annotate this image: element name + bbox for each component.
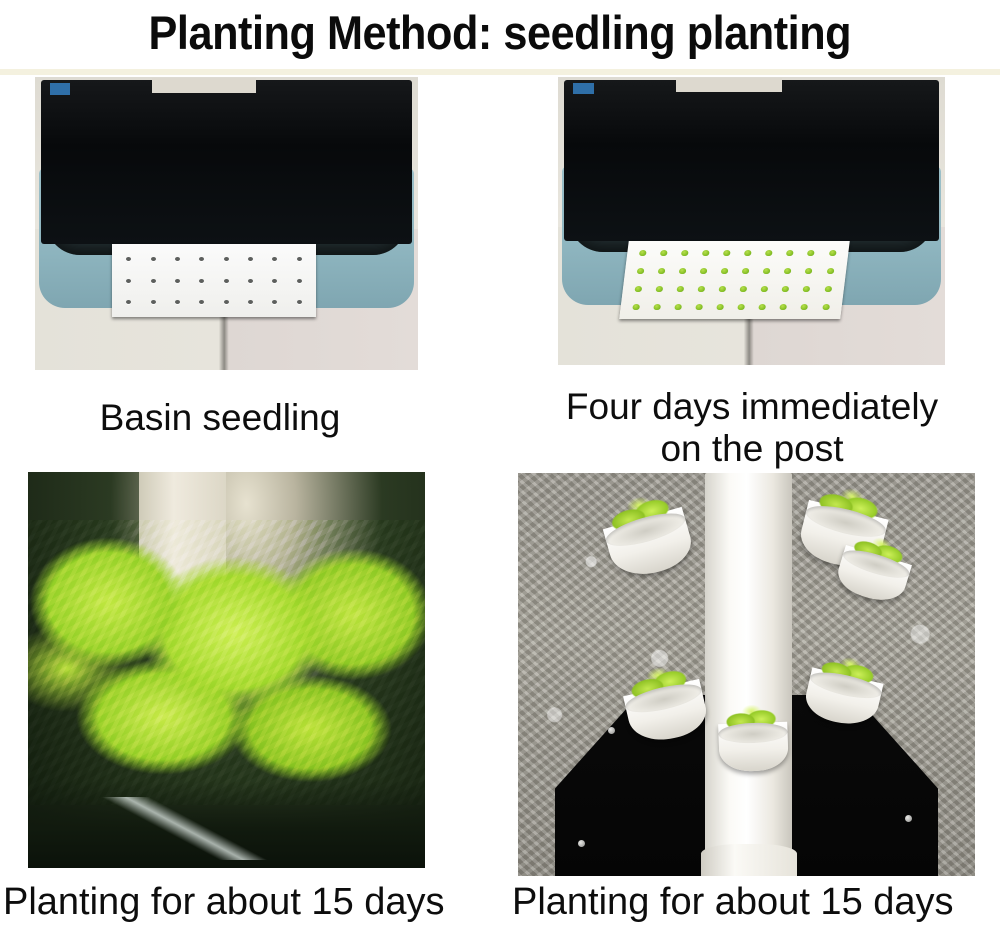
seedling-sprout (782, 286, 790, 292)
foam-hole (175, 257, 180, 261)
seedling-sprout (676, 286, 684, 292)
foam-hole (199, 279, 204, 283)
basin-black-body (564, 80, 939, 241)
basin-black-body (41, 80, 413, 244)
foam-hole (248, 279, 253, 283)
seedling-sprout (637, 268, 645, 274)
seedling-sprout (742, 268, 750, 274)
foam-hole (272, 257, 277, 261)
seedling-sprout (780, 304, 788, 310)
foam-hole (248, 300, 253, 304)
foam-hole (175, 300, 180, 304)
seedling-sprout (658, 268, 666, 274)
foam-hole (126, 279, 131, 283)
tower-column (705, 473, 792, 876)
foam-hole (297, 300, 302, 304)
seedling-sprout (786, 250, 794, 256)
foam-hole (224, 279, 229, 283)
seedling-sprout (700, 268, 708, 274)
seedling-sprout (681, 250, 689, 256)
photo-lettuce-closeup (28, 472, 425, 868)
basin-blue-label (573, 83, 594, 94)
seedling-sprout (737, 304, 745, 310)
title-divider (0, 69, 1000, 75)
seedling-sprout (807, 250, 815, 256)
base-screw (905, 815, 912, 822)
foam-hole (151, 300, 156, 304)
foam-hole (151, 279, 156, 283)
photo-four-days-content (558, 77, 945, 365)
seedling-sprout (740, 286, 748, 292)
foam-hole (272, 279, 277, 283)
glass-reflection (99, 797, 282, 860)
tower-base-collar (701, 844, 797, 876)
foam-hole (199, 257, 204, 261)
seedling-sprout (716, 304, 724, 310)
base-screw (608, 727, 615, 734)
foam-hole (272, 300, 277, 304)
page-title-bar: Planting Method: seedling planting (0, 0, 1000, 66)
caption-planting-15-days-right: Planting for about 15 days (512, 880, 1000, 924)
foam-hole (224, 257, 229, 261)
seedling-sprout (822, 304, 830, 310)
foam-hole (297, 257, 302, 261)
seedling-sprout (653, 304, 661, 310)
seedling-sprout (758, 304, 766, 310)
caption-basin-seedling: Basin seedling (20, 396, 420, 440)
seedling-sprout (744, 250, 752, 256)
seedling-sprout (763, 268, 771, 274)
seedling-sprout (660, 250, 668, 256)
seedling-sprout (632, 304, 640, 310)
seedling-sprout (803, 286, 811, 292)
basin-blue-label (50, 83, 70, 94)
foam-hole (297, 279, 302, 283)
seedling-sprout (828, 250, 836, 256)
foam-hole (126, 257, 131, 261)
photo-tower-content (518, 473, 975, 876)
seedling-sprout (801, 304, 809, 310)
page-title: Planting Method: seedling planting (149, 8, 852, 58)
caption-four-days: Four days immediately on the post (540, 386, 964, 470)
foam-hole (151, 257, 156, 261)
photo-basin-seedling (35, 77, 418, 370)
seedling-sprout (765, 250, 773, 256)
leaf-texture (28, 520, 425, 805)
seedling-sprout (826, 268, 834, 274)
photo-hydroponic-tower (518, 473, 975, 876)
seedling-sprout (639, 250, 647, 256)
foam-board-sprouted (619, 241, 849, 319)
caption-planting-15-days-left: Planting for about 15 days (0, 880, 500, 924)
seedling-sprout (695, 304, 703, 310)
foam-hole (248, 257, 253, 261)
seedling-sprout (761, 286, 769, 292)
seedling-sprout (721, 268, 729, 274)
seedling-sprout (784, 268, 792, 274)
photo-four-days-seedlings (558, 77, 945, 365)
seedling-sprout (723, 250, 731, 256)
foam-hole (199, 300, 204, 304)
foam-hole (126, 300, 131, 304)
foam-hole (224, 300, 229, 304)
seedling-sprout (805, 268, 813, 274)
foam-hole (175, 279, 180, 283)
seedling-sprout (634, 286, 642, 292)
seedling-sprout (697, 286, 705, 292)
seedling-sprout (824, 286, 832, 292)
seedling-sprout (674, 304, 682, 310)
photo-basin-seedling-content (35, 77, 418, 370)
photo-lettuce-content (28, 472, 425, 868)
seedling-sprout (679, 268, 687, 274)
seedling-sprout (655, 286, 663, 292)
foam-board-empty (112, 244, 317, 317)
base-screw (578, 840, 585, 847)
seedling-sprout (719, 286, 727, 292)
seedling-sprout (702, 250, 710, 256)
